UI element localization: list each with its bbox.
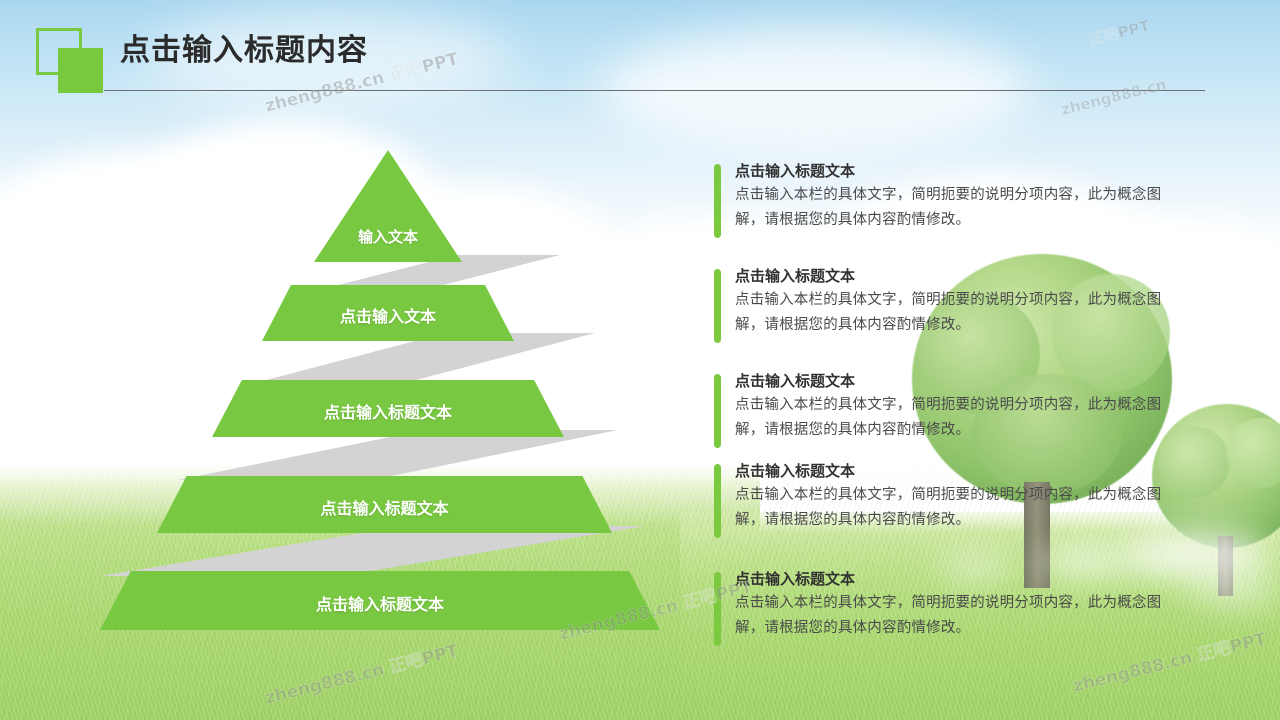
list-item-heading: 点击输入标题文本 — [735, 370, 855, 392]
pyramid-shadow-band-4 — [100, 526, 645, 576]
list-item-body: 点击输入本栏的具体文字，简明扼要的说明分项内容，此为概念图解，请根据您的具体内容… — [735, 183, 1175, 233]
list-item-body: 点击输入本栏的具体文字，简明扼要的说明分项内容，此为概念图解，请根据您的具体内容… — [735, 288, 1175, 338]
light-glow — [1120, 530, 1270, 580]
pyramid-level-1-label: 输入文本 — [314, 226, 462, 247]
pyramid-shadow-band-3 — [178, 430, 618, 480]
pyramid-level-4-label: 点击输入标题文本 — [157, 495, 612, 519]
list-item-body: 点击输入本栏的具体文字，简明扼要的说明分项内容，此为概念图解，请根据您的具体内容… — [735, 393, 1175, 443]
pyramid-level-5-label: 点击输入标题文本 — [100, 591, 660, 615]
pyramid-level-2-label: 点击输入文本 — [262, 303, 514, 327]
list-item-heading: 点击输入标题文本 — [735, 568, 855, 590]
light-glow — [940, 555, 1010, 581]
list-item-heading: 点击输入标题文本 — [735, 460, 855, 482]
list-item-heading: 点击输入标题文本 — [735, 160, 855, 182]
light-glow — [1040, 545, 1130, 579]
accent-bar — [714, 164, 721, 238]
pyramid-level-3-label: 点击输入标题文本 — [212, 399, 564, 423]
list-item-body: 点击输入本栏的具体文字，简明扼要的说明分项内容，此为概念图解，请根据您的具体内容… — [735, 483, 1175, 533]
accent-bar — [714, 374, 721, 448]
list-item-body: 点击输入本栏的具体文字，简明扼要的说明分项内容，此为概念图解，请根据您的具体内容… — [735, 591, 1175, 641]
slide-canvas: 点击输入标题内容 输入文本 点击输入文本 点击输入标题文本 点击输入标题文本 点… — [0, 0, 1280, 720]
light-glow — [1190, 575, 1280, 605]
list-item-heading: 点击输入标题文本 — [735, 265, 855, 287]
accent-bar — [714, 269, 721, 343]
accent-bar — [714, 464, 721, 538]
